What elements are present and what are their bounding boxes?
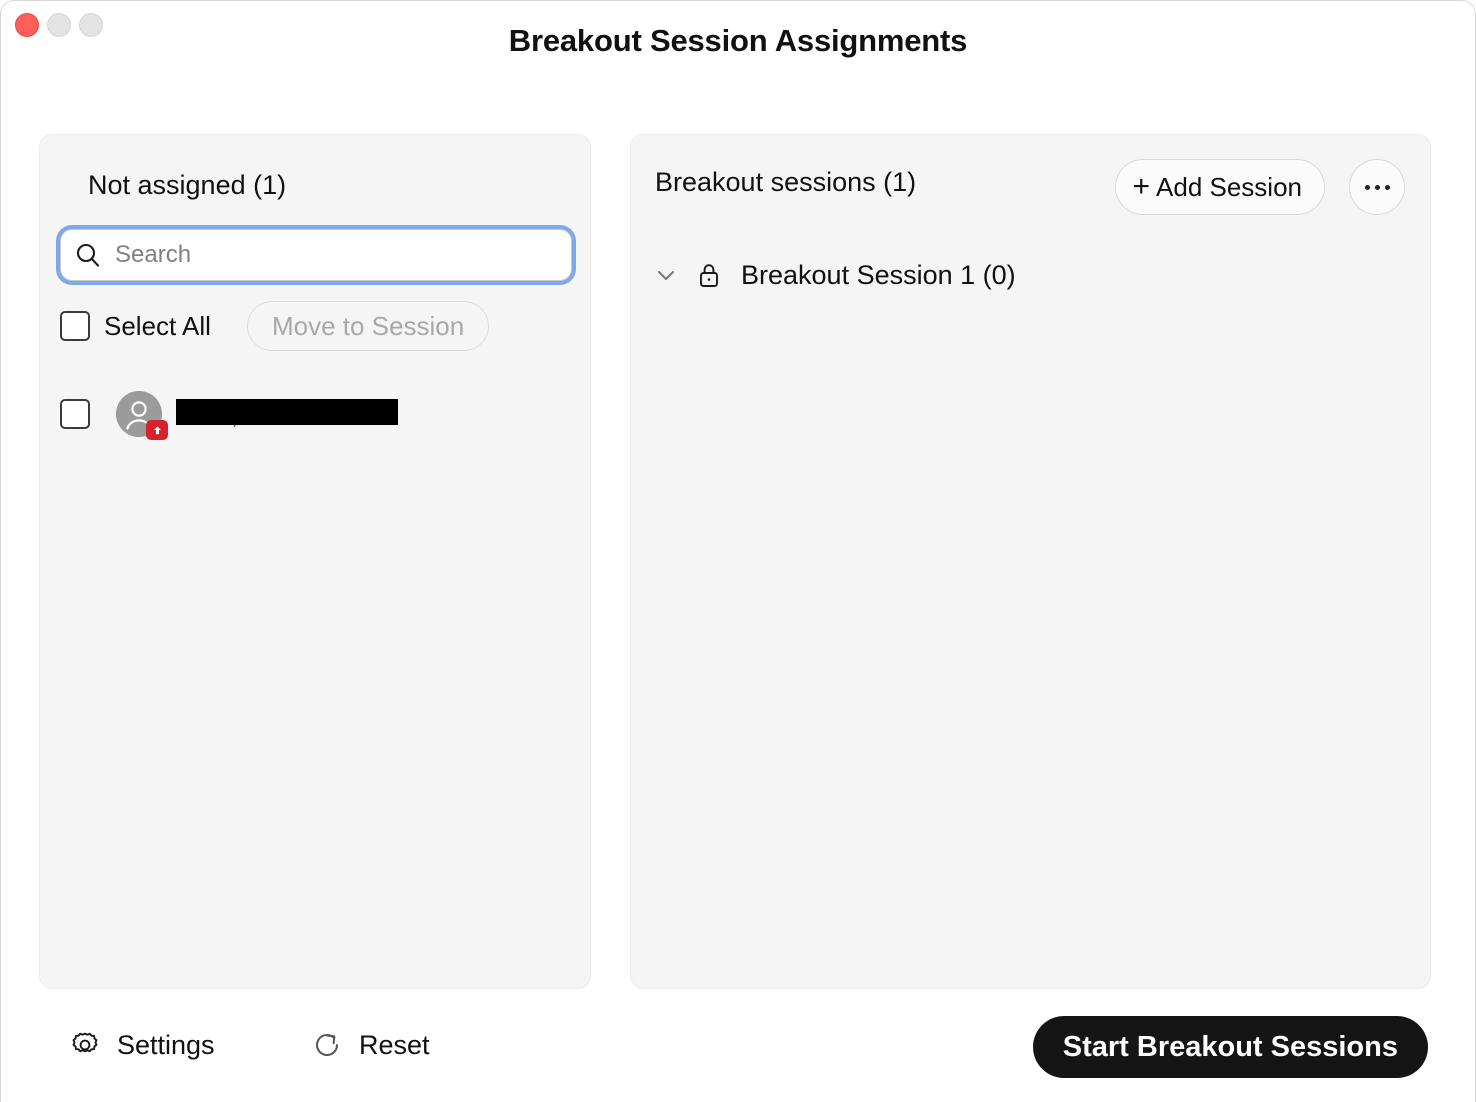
app-window: Breakout Session Assignments Not assigne… — [0, 0, 1476, 1102]
search-icon — [75, 242, 101, 268]
list-item[interactable]: Host, me — [60, 378, 572, 450]
select-all-row: Select All Move to Session — [60, 300, 489, 352]
not-assigned-panel: Not assigned (1) Select All Move to Sess… — [39, 134, 591, 989]
chevron-down-icon[interactable] — [653, 262, 679, 288]
settings-button[interactable]: Settings — [69, 1029, 215, 1061]
avatar — [116, 391, 162, 437]
move-to-session-button[interactable]: Move to Session — [247, 301, 489, 351]
session-name: Breakout Session 1 (0) — [741, 260, 1016, 291]
search-field[interactable] — [60, 229, 572, 281]
session-row[interactable]: Breakout Session 1 (0) — [653, 253, 1016, 297]
footer-bar: Settings Reset Start Breakout Sessions — [1, 989, 1475, 1102]
add-session-label: Add Session — [1156, 172, 1302, 203]
select-all-checkbox[interactable] — [60, 311, 90, 341]
redaction-bar — [176, 399, 398, 425]
more-options-button[interactable] — [1349, 159, 1405, 215]
refresh-icon — [311, 1029, 343, 1061]
lock-icon — [696, 261, 722, 289]
search-input[interactable] — [113, 240, 557, 270]
start-breakout-sessions-button[interactable]: Start Breakout Sessions — [1033, 1016, 1428, 1078]
breakout-sessions-panel: Breakout sessions (1) + Add Session Brea… — [630, 134, 1431, 989]
participant-checkbox[interactable] — [60, 399, 90, 429]
page-title: Breakout Session Assignments — [1, 23, 1475, 59]
settings-label: Settings — [117, 1030, 215, 1061]
plus-icon: + — [1132, 172, 1150, 202]
reset-button[interactable]: Reset — [311, 1029, 430, 1061]
raise-hand-badge-icon — [146, 420, 168, 440]
window-titlebar: Breakout Session Assignments — [1, 1, 1475, 87]
ellipsis-icon — [1385, 185, 1390, 190]
participant-info: Host, me — [182, 397, 278, 431]
gear-icon — [69, 1029, 101, 1061]
not-assigned-title: Not assigned (1) — [88, 170, 286, 201]
breakout-sessions-title: Breakout sessions (1) — [655, 167, 916, 198]
reset-label: Reset — [359, 1030, 430, 1061]
ellipsis-icon — [1375, 185, 1380, 190]
add-session-button[interactable]: + Add Session — [1115, 159, 1325, 215]
ellipsis-icon — [1365, 185, 1370, 190]
select-all-label: Select All — [104, 311, 211, 342]
